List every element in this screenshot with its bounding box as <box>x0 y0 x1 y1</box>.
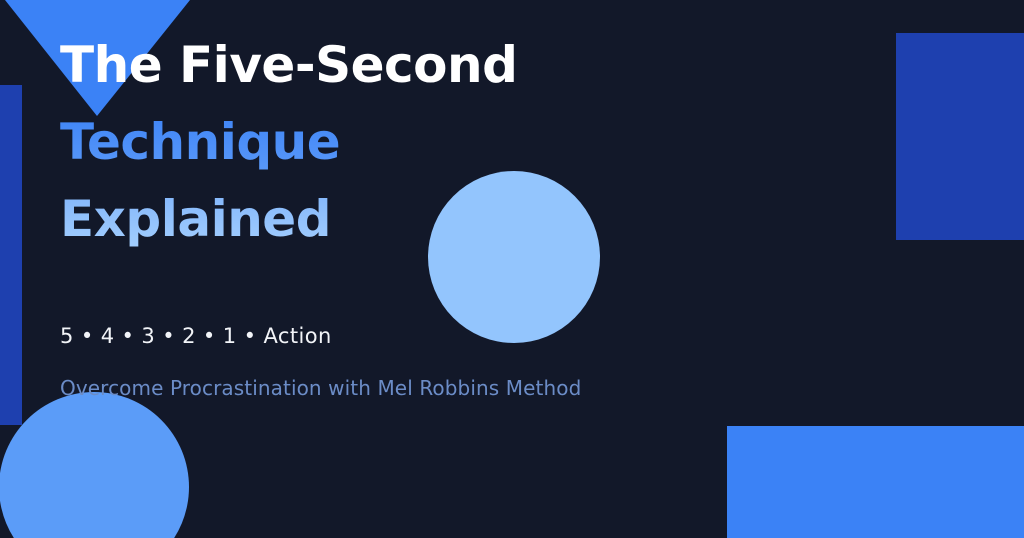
slide-content: The Five-Second Technique Explained 5 • … <box>60 0 940 538</box>
countdown-steps-label: 5 • 4 • 3 • 2 • 1 • Action <box>60 324 332 348</box>
presentation-slide: The Five-Second Technique Explained 5 • … <box>0 0 1024 538</box>
slide-title-line-2: Technique <box>60 104 340 181</box>
slide-subtitle: Overcome Procrastination with Mel Robbin… <box>60 376 581 400</box>
slide-title-line-1: The Five-Second <box>60 27 517 104</box>
slide-title-line-3: Explained <box>60 181 331 258</box>
left-bar-decoration <box>0 85 22 425</box>
